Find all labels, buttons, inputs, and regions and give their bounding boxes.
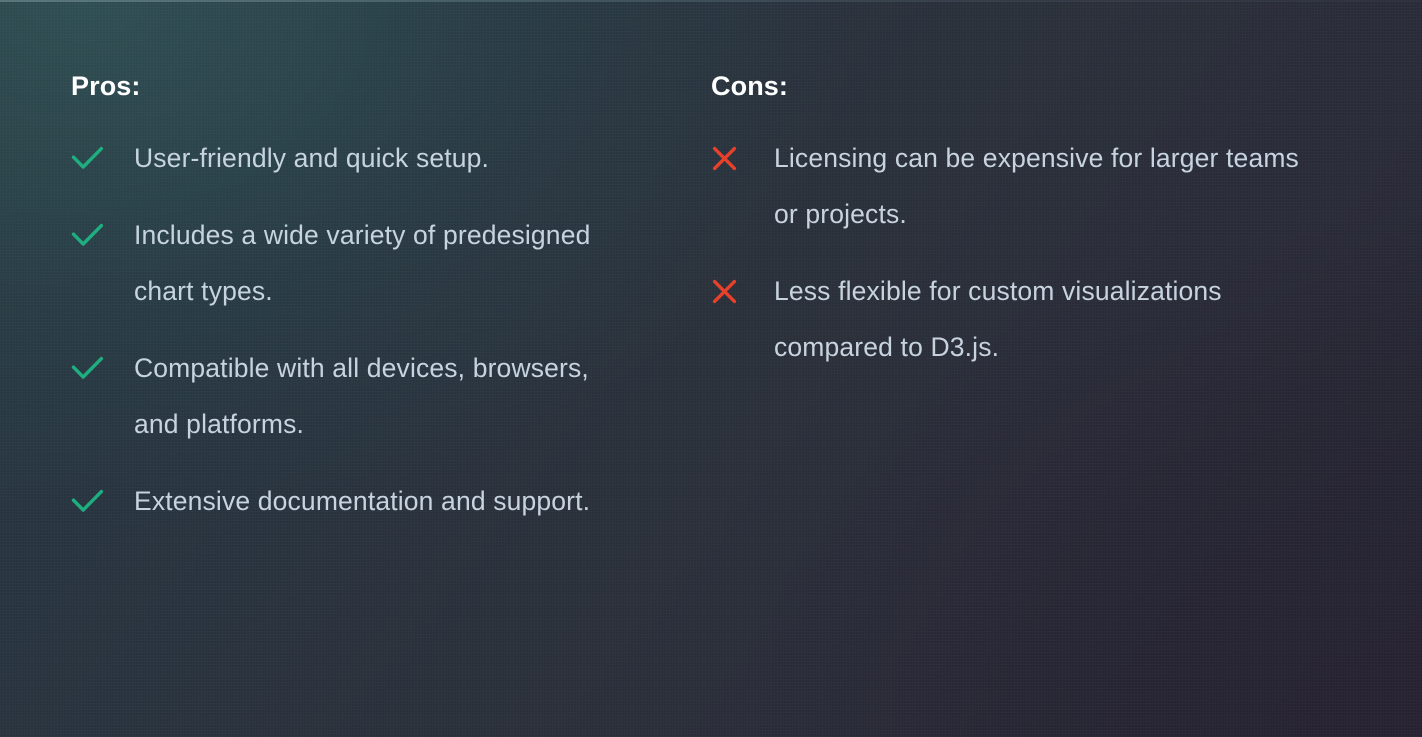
cons-list: Licensing can be expensive for larger te… bbox=[711, 142, 1392, 375]
two-column-layout: Pros: User-friendly and quick setup. bbox=[0, 0, 1422, 737]
list-item: Licensing can be expensive for larger te… bbox=[711, 142, 1392, 242]
list-item: Includes a wide variety of predesigned c… bbox=[71, 219, 680, 319]
list-item: Compatible with all devices, browsers, a… bbox=[71, 352, 680, 452]
cons-heading: Cons: bbox=[711, 72, 1392, 102]
check-icon bbox=[71, 352, 106, 385]
cross-icon bbox=[711, 142, 746, 175]
pros-heading: Pros: bbox=[71, 72, 680, 102]
cons-item-text: Less flexible for custom visualizations … bbox=[774, 263, 1304, 375]
cross-icon bbox=[711, 275, 746, 308]
pros-list: User-friendly and quick setup. Includes … bbox=[71, 142, 680, 529]
slide-canvas: Pros: User-friendly and quick setup. bbox=[0, 0, 1422, 737]
check-icon bbox=[71, 219, 106, 252]
list-item: User-friendly and quick setup. bbox=[71, 142, 680, 186]
cons-column: Cons: Licensing can be expensive for lar… bbox=[700, 72, 1422, 737]
pros-column: Pros: User-friendly and quick setup. bbox=[0, 72, 700, 737]
pros-item-text: Includes a wide variety of predesigned c… bbox=[134, 207, 634, 319]
check-icon bbox=[71, 142, 106, 175]
pros-item-text: Extensive documentation and support. bbox=[134, 473, 634, 529]
list-item: Extensive documentation and support. bbox=[71, 485, 680, 529]
list-item: Less flexible for custom visualizations … bbox=[711, 275, 1392, 375]
pros-item-text: User-friendly and quick setup. bbox=[134, 130, 634, 186]
pros-item-text: Compatible with all devices, browsers, a… bbox=[134, 340, 634, 452]
check-icon bbox=[71, 485, 106, 518]
cons-item-text: Licensing can be expensive for larger te… bbox=[774, 130, 1304, 242]
